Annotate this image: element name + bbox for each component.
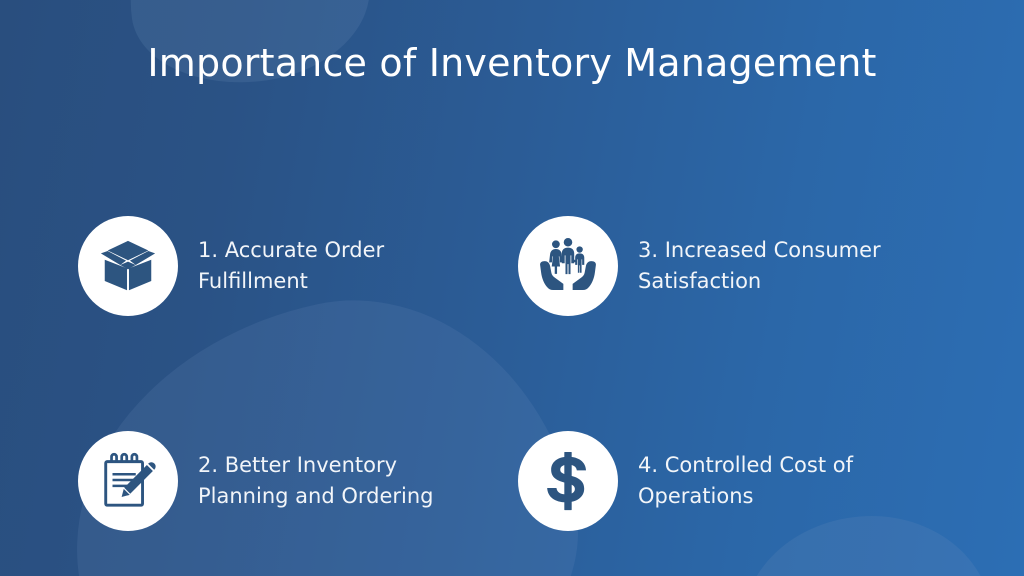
list-item: 3. Increased Consumer Satisfaction xyxy=(518,158,958,373)
list-item-label: 1. Accurate Order Fulfillment xyxy=(198,235,460,297)
list-item: 1. Accurate Order Fulfillment xyxy=(78,158,518,373)
slide-title: Importance of Inventory Management xyxy=(0,42,1024,86)
notepad-pencil-icon xyxy=(78,431,178,531)
list-item: 2. Better Inventory Planning and Orderin… xyxy=(78,373,518,576)
list-item-label: 2. Better Inventory Planning and Orderin… xyxy=(198,450,460,512)
open-box-icon xyxy=(78,216,178,316)
list-item-label: 4. Controlled Cost of Operations xyxy=(638,450,906,512)
family-in-hands-icon xyxy=(518,216,618,316)
items-grid: 1. Accurate Order Fulfillment xyxy=(78,158,958,576)
slide: Importance of Inventory Management xyxy=(0,0,1024,576)
list-item: 4. Controlled Cost of Operations xyxy=(518,373,958,576)
dollar-sign-icon xyxy=(518,431,618,531)
list-item-label: 3. Increased Consumer Satisfaction xyxy=(638,235,906,297)
